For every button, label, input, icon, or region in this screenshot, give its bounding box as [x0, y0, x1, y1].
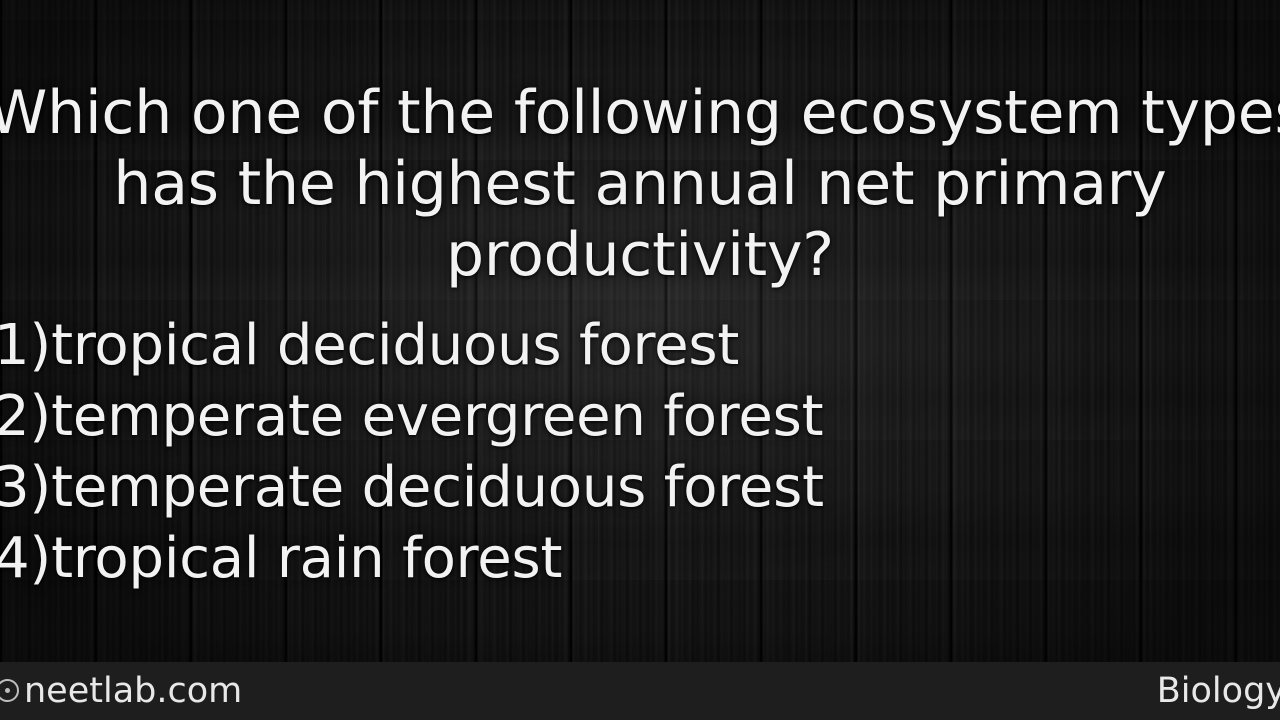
registered-mark-icon [0, 679, 19, 702]
subject-label: Biology [1157, 672, 1280, 710]
question-line-1: Which one of the following ecosystem typ… [0, 78, 1280, 149]
option-3[interactable]: 3)temperate deciduous forest [0, 452, 1280, 523]
footer-bar: neetlab.com Biology [0, 662, 1280, 720]
question-line-2: has the highest annual net primary [0, 149, 1280, 220]
site-name: neetlab.com [24, 672, 242, 710]
option-2[interactable]: 2)temperate evergreen forest [0, 381, 1280, 452]
question-line-3: productivity? [0, 220, 1280, 291]
answer-options-list: 1)tropical deciduous forest 2)temperate … [0, 310, 1280, 594]
option-1[interactable]: 1)tropical deciduous forest [0, 310, 1280, 381]
question-slide: Which one of the following ecosystem typ… [0, 0, 1280, 720]
footer-branding: neetlab.com [0, 672, 242, 710]
question-text: Which one of the following ecosystem typ… [0, 78, 1280, 291]
slide-content: Which one of the following ecosystem typ… [0, 0, 1280, 662]
footer-inner: neetlab.com Biology [0, 662, 1280, 720]
option-4[interactable]: 4)tropical rain forest [0, 523, 1280, 594]
